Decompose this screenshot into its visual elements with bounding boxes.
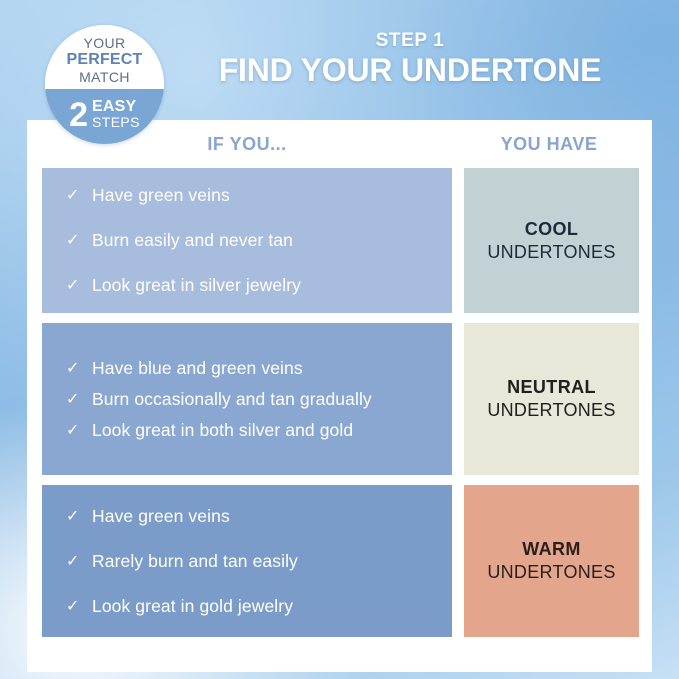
swatch-subtitle: UNDERTONES [487, 241, 615, 264]
perfect-match-badge: YOUR PERFECT MATCH 2 EASY STEPS [45, 25, 164, 144]
badge-top-half: YOUR PERFECT MATCH [45, 25, 164, 89]
criteria-text: Look great in silver jewelry [92, 274, 438, 297]
badge-line-perfect: PERFECT [66, 51, 142, 69]
undertone-swatch: NEUTRAL UNDERTONES [464, 323, 639, 475]
check-icon: ✓ [66, 274, 92, 297]
check-icon: ✓ [66, 550, 92, 573]
badge-line-match: MATCH [79, 69, 130, 85]
criteria-item: ✓Have blue and green veins [66, 357, 438, 380]
check-icon: ✓ [66, 419, 92, 442]
criteria-text: Look great in both silver and gold [92, 419, 438, 442]
undertone-swatch: COOL UNDERTONES [464, 168, 639, 313]
criteria-text: Burn easily and never tan [92, 229, 438, 252]
undertone-table-card: IF YOU... YOU HAVE ✓Have green veins✓Bur… [27, 120, 652, 672]
criteria-text: Have green veins [92, 505, 438, 528]
badge-label-steps: STEPS [92, 115, 140, 130]
criteria-text: Look great in gold jewelry [92, 595, 438, 618]
criteria-item: ✓Look great in gold jewelry [66, 595, 438, 618]
table-row: ✓Have green veins✓Burn easily and never … [27, 168, 652, 313]
column-header-you-have: YOU HAVE [459, 134, 639, 155]
criteria-item: ✓Have green veins [66, 184, 438, 207]
badge-bottom-half: 2 EASY STEPS [45, 89, 164, 144]
swatch-subtitle: UNDERTONES [487, 399, 615, 422]
check-icon: ✓ [66, 357, 92, 380]
check-icon: ✓ [66, 184, 92, 207]
table-row: ✓Have blue and green veins✓Burn occasion… [27, 323, 652, 475]
badge-steps-text: EASY STEPS [92, 99, 140, 130]
badge-line-your: YOUR [83, 36, 125, 51]
criteria-text: Have green veins [92, 184, 438, 207]
criteria-text: Burn occasionally and tan gradually [92, 388, 438, 411]
criteria-panel: ✓Have blue and green veins✓Burn occasion… [42, 323, 452, 475]
badge-label-easy: EASY [92, 99, 140, 115]
criteria-item: ✓Have green veins [66, 505, 438, 528]
undertone-swatch: WARM UNDERTONES [464, 485, 639, 637]
step-label: STEP 1 [180, 30, 640, 52]
swatch-name: NEUTRAL [507, 376, 596, 399]
badge-step-count: 2 [69, 98, 88, 132]
criteria-text: Rarely burn and tan easily [92, 550, 438, 573]
criteria-panel: ✓Have green veins✓Rarely burn and tan ea… [42, 485, 452, 637]
check-icon: ✓ [66, 595, 92, 618]
table-row: ✓Have green veins✓Rarely burn and tan ea… [27, 485, 652, 637]
criteria-item: ✓Burn occasionally and tan gradually [66, 388, 438, 411]
swatch-name: COOL [525, 218, 579, 241]
page-title: FIND YOUR UNDERTONE [180, 52, 640, 89]
swatch-name: WARM [522, 538, 581, 561]
criteria-text: Have blue and green veins [92, 357, 438, 380]
check-icon: ✓ [66, 229, 92, 252]
criteria-item: ✓Burn easily and never tan [66, 229, 438, 252]
swatch-subtitle: UNDERTONES [487, 561, 615, 584]
criteria-item: ✓Look great in silver jewelry [66, 274, 438, 297]
criteria-item: ✓Rarely burn and tan easily [66, 550, 438, 573]
check-icon: ✓ [66, 388, 92, 411]
check-icon: ✓ [66, 505, 92, 528]
criteria-item: ✓Look great in both silver and gold [66, 419, 438, 442]
criteria-panel: ✓Have green veins✓Burn easily and never … [42, 168, 452, 313]
